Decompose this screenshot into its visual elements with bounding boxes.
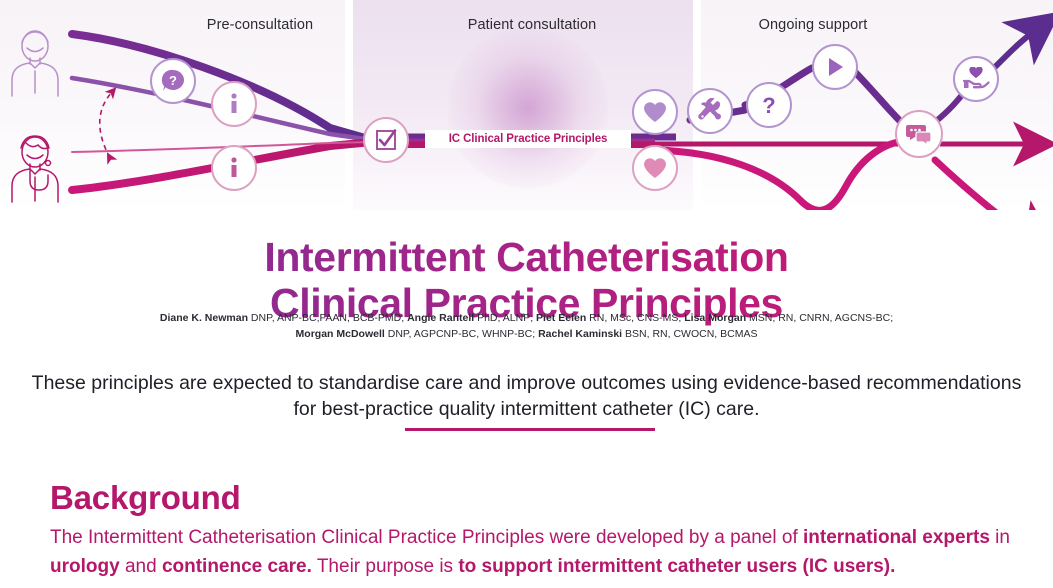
ic-principles-chip-label: IC Clinical Practice Principles <box>449 133 608 145</box>
question-bubble-icon: ? <box>150 58 196 104</box>
infographic-page: Pre-consultation Patient consultation On… <box>0 0 1053 588</box>
journey-banner: Pre-consultation Patient consultation On… <box>0 0 1053 210</box>
section-divider <box>405 428 655 431</box>
stage-label-pre-consultation: Pre-consultation <box>175 17 345 33</box>
author-line-1: Diane K. Newman DNP, ANP-BC,FAAN, BCB-PM… <box>0 310 1053 326</box>
heart-icon-upper <box>632 89 678 135</box>
background-body: The Intermittent Catheterisation Clinica… <box>50 524 1015 582</box>
stage-label-patient-consultation: Patient consultation <box>447 17 617 33</box>
hand-heart-icon <box>953 56 999 102</box>
intro-statement: These principles are expected to standar… <box>30 370 1023 423</box>
play-icon <box>812 44 858 90</box>
page-title-line1: Intermittent Catheterisation <box>264 234 788 280</box>
author-line-2: Morgan McDowell DNP, AGPCNP-BC, WHNP-BC;… <box>0 326 1053 342</box>
ic-principles-chip: IC Clinical Practice Principles <box>425 130 631 148</box>
stage-label-ongoing-support: Ongoing support <box>728 17 898 33</box>
background-heading: Background <box>50 479 241 517</box>
checklist-icon <box>363 117 409 163</box>
svg-text:?: ? <box>169 73 177 88</box>
svg-text:?: ? <box>762 93 775 118</box>
author-credits: Diane K. Newman DNP, ANP-BC,FAAN, BCB-PM… <box>0 310 1053 343</box>
information-icon-lower <box>211 145 257 191</box>
intro-line1: These principles are expected to standar… <box>32 372 718 394</box>
heart-icon-lower <box>632 145 678 191</box>
question-mark-icon: ? <box>746 82 792 128</box>
patient-avatar-icon <box>12 31 58 96</box>
clinician-avatar-icon <box>12 136 58 202</box>
tools-icon <box>687 88 733 134</box>
information-icon-upper <box>211 81 257 127</box>
chat-bubbles-icon <box>895 110 943 158</box>
